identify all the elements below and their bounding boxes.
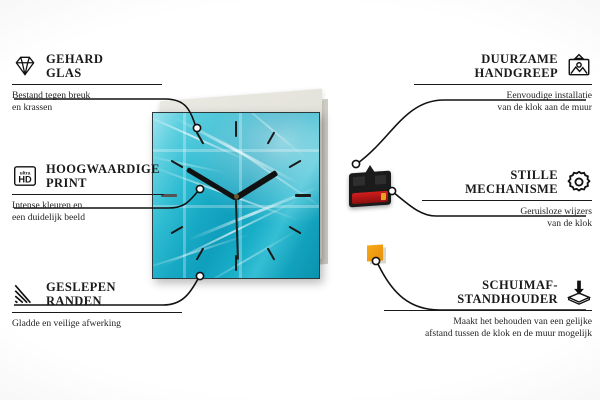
tick-3 bbox=[295, 194, 311, 197]
diagonal-lines-icon bbox=[12, 281, 38, 307]
feature-stille-mechanisme: STILLE MECHANISME Geruisloze wijzers van… bbox=[422, 168, 592, 230]
feature-title: DUURZAME bbox=[475, 52, 558, 66]
feature-desc: van de klok bbox=[422, 218, 592, 230]
clock-mechanism bbox=[349, 171, 391, 208]
infographic-canvas: GEHARD GLAS Bestand tegen breuk en krass… bbox=[0, 0, 600, 400]
feature-title: RANDEN bbox=[46, 294, 116, 308]
feature-title: GLAS bbox=[46, 66, 103, 80]
arrow-into-pad-icon bbox=[566, 279, 592, 305]
grid-line-horizontal bbox=[153, 149, 319, 152]
feature-title: SCHUIMAF- bbox=[457, 278, 558, 292]
mechanism-slot bbox=[353, 176, 365, 186]
divider bbox=[12, 312, 182, 313]
divider bbox=[422, 200, 592, 201]
feature-desc: Eenvoudige installatie bbox=[414, 90, 592, 102]
feature-title: MECHANISME bbox=[465, 182, 558, 196]
feature-desc: Maakt het behouden van een gelijke bbox=[384, 316, 592, 328]
divider bbox=[384, 310, 592, 311]
battery bbox=[352, 191, 388, 205]
battery-terminal bbox=[381, 193, 386, 200]
feature-title: STANDHOUDER bbox=[457, 292, 558, 306]
feature-desc: van de klok aan de muur bbox=[414, 102, 592, 114]
tick-12 bbox=[235, 121, 237, 137]
mechanism-slot bbox=[375, 175, 386, 185]
mechanism-shaft bbox=[365, 165, 375, 174]
feature-title: GESLEPEN bbox=[46, 280, 116, 294]
feature-gehard-glas: GEHARD GLAS Bestand tegen breuk en krass… bbox=[12, 52, 162, 114]
divider bbox=[12, 84, 162, 85]
gear-icon bbox=[566, 169, 592, 195]
feature-title: GEHARD bbox=[46, 52, 103, 66]
feature-geslepen-randen: GESLEPEN RANDEN Gladde en veilige afwerk… bbox=[12, 280, 182, 330]
feature-desc: afstand tussen de klok en de muur mogeli… bbox=[384, 328, 592, 340]
divider bbox=[414, 84, 592, 85]
connector-dot-duurzame-handgreep bbox=[352, 160, 359, 167]
feature-desc: Bestand tegen breuk bbox=[12, 90, 162, 102]
foam-spacer bbox=[367, 244, 383, 261]
clock-pivot bbox=[234, 194, 239, 199]
feature-desc: en krassen bbox=[12, 102, 162, 114]
feature-title: STILLE bbox=[465, 168, 558, 182]
feature-title: PRINT bbox=[46, 176, 160, 190]
wall-clock-face bbox=[152, 112, 320, 279]
diamond-icon bbox=[12, 53, 38, 79]
divider bbox=[12, 194, 164, 195]
feature-title: HOOGWAARDIGE bbox=[46, 162, 160, 176]
grid-line-vertical bbox=[183, 113, 186, 278]
feature-desc: een duidelijk beeld bbox=[12, 212, 164, 224]
feature-schuimafstandhouder: SCHUIMAF- STANDHOUDER Maakt het behouden… bbox=[384, 278, 592, 340]
svg-text:HD: HD bbox=[18, 175, 32, 185]
feature-hoogwaardige-print: ultra HD HOOGWAARDIGE PRINT Intense kleu… bbox=[12, 162, 164, 224]
feature-title: HANDGREEP bbox=[475, 66, 558, 80]
feature-duurzame-handgreep: DUURZAME HANDGREEP Eenvoudige installati… bbox=[414, 52, 592, 114]
feature-desc: Intense kleuren en bbox=[12, 200, 164, 212]
feature-desc: Gladde en veilige afwerking bbox=[12, 318, 182, 330]
ultra-hd-icon: ultra HD bbox=[12, 163, 38, 189]
feature-desc: Geruisloze wijzers bbox=[422, 206, 592, 218]
hanging-picture-icon bbox=[566, 53, 592, 79]
